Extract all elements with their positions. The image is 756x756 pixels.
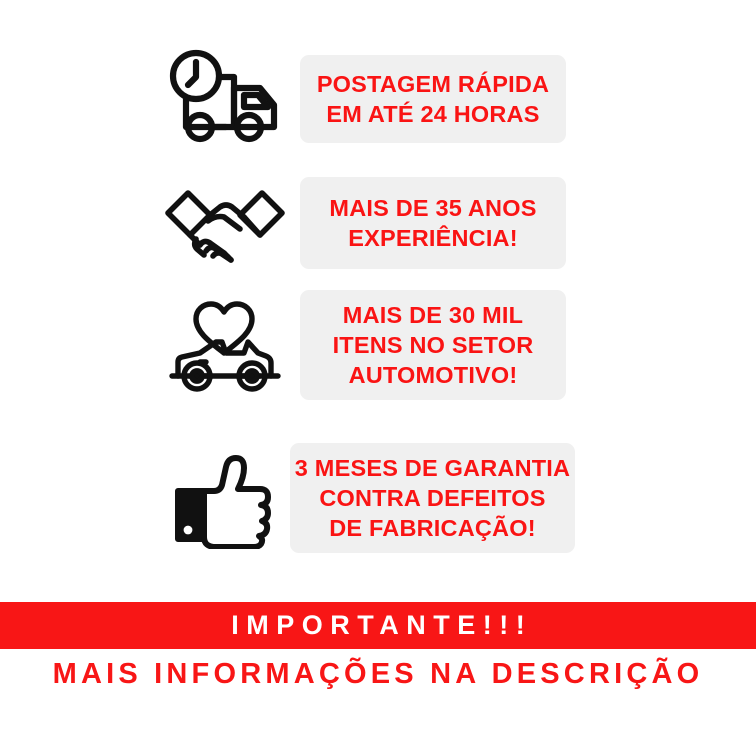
benefit-line: CONTRA DEFEITOS (319, 483, 545, 513)
benefit-text-box-warranty: 3 MESES DE GARANTIA CONTRA DEFEITOS DE F… (290, 443, 575, 553)
description-note-label: MAIS INFORMAÇÕES NA DESCRIÇÃO (53, 658, 704, 690)
important-banner: IMPORTANTE!!! (0, 602, 756, 649)
promo-banner-page: POSTAGEM RÁPIDA EM ATÉ 24 HORAS (0, 0, 756, 756)
description-note: MAIS INFORMAÇÕES NA DESCRIÇÃO (0, 658, 756, 691)
benefit-row-experience: MAIS DE 35 ANOS EXPERIÊNCIA! (150, 173, 610, 273)
car-heart-icon (150, 290, 300, 400)
benefit-line: MAIS DE 35 ANOS (329, 193, 536, 223)
delivery-truck-clock-icon (150, 49, 300, 149)
benefit-line: EXPERIÊNCIA! (348, 223, 518, 253)
benefit-line: POSTAGEM RÁPIDA (317, 69, 549, 99)
important-banner-label: IMPORTANTE!!! (224, 610, 532, 641)
benefit-text-box-experience: MAIS DE 35 ANOS EXPERIÊNCIA! (300, 177, 566, 269)
benefit-row-catalog: MAIS DE 30 MIL ITENS NO SETOR AUTOMOTIVO… (150, 289, 610, 401)
benefit-row-shipping: POSTAGEM RÁPIDA EM ATÉ 24 HORAS (150, 48, 610, 150)
benefit-line: AUTOMOTIVO! (349, 360, 518, 390)
thumbs-up-icon (150, 447, 290, 549)
handshake-icon (150, 177, 300, 269)
benefit-line: 3 MESES DE GARANTIA (295, 453, 570, 483)
benefit-line: EM ATÉ 24 HORAS (326, 99, 539, 129)
benefit-line: DE FABRICAÇÃO! (329, 513, 535, 543)
benefit-text-box-catalog: MAIS DE 30 MIL ITENS NO SETOR AUTOMOTIVO… (300, 290, 566, 400)
benefit-text-box-shipping: POSTAGEM RÁPIDA EM ATÉ 24 HORAS (300, 55, 566, 143)
benefit-line: MAIS DE 30 MIL (343, 300, 523, 330)
benefit-line: ITENS NO SETOR (333, 330, 534, 360)
benefit-row-warranty: 3 MESES DE GARANTIA CONTRA DEFEITOS DE F… (150, 441, 610, 555)
